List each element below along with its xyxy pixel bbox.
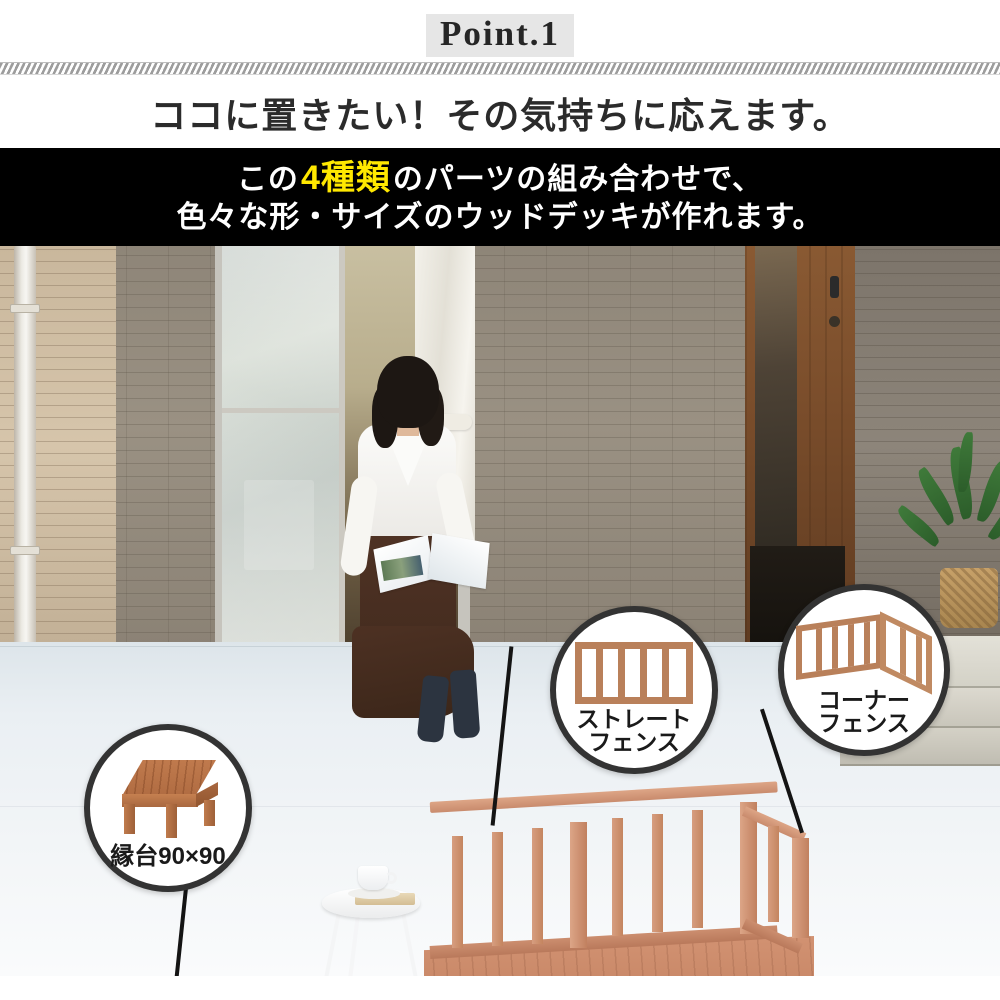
railing-baluster-1 bbox=[452, 836, 463, 948]
straight-fence-icon bbox=[575, 642, 693, 704]
door-handle bbox=[830, 276, 839, 298]
railing-baluster-2 bbox=[492, 832, 503, 946]
bench-icon-leg-2 bbox=[166, 804, 177, 838]
bench-icon-leg-1 bbox=[124, 804, 135, 834]
entry-door-sidelight bbox=[755, 246, 797, 560]
callout-straight-fence-label-line1: ストレート bbox=[577, 708, 692, 732]
plant-pot bbox=[940, 568, 998, 628]
corner-fence-panel-left bbox=[796, 614, 882, 680]
corner-fence-icon bbox=[796, 616, 932, 684]
railing-post-corner bbox=[740, 802, 757, 934]
pipe-band-lower bbox=[10, 546, 40, 555]
callout-corner-fence-label: コーナー フェンス bbox=[818, 689, 910, 736]
railing-baluster-5 bbox=[652, 814, 663, 932]
banner-highlight: 4種類 bbox=[299, 159, 393, 197]
callout-corner-fence[interactable]: コーナー フェンス bbox=[778, 584, 950, 756]
railing-post-middle bbox=[570, 822, 587, 948]
corner-fence-baluster-6 bbox=[916, 635, 922, 684]
magazine-right-page bbox=[428, 533, 489, 589]
straight-fence-baluster-4 bbox=[662, 649, 669, 697]
railing-baluster-4 bbox=[612, 818, 623, 936]
railing-return-baluster-1 bbox=[768, 826, 779, 922]
callout-corner-fence-label-line2: フェンス bbox=[818, 712, 910, 736]
feature-banner: この4種類のパーツの組み合わせで、 色々な形・サイズのウッドデッキが作れます。 bbox=[0, 148, 1000, 246]
callout-bench[interactable]: 縁台90×90 bbox=[84, 724, 252, 892]
window-reflection-c bbox=[244, 480, 314, 570]
cup-handle bbox=[385, 872, 397, 884]
banner-line-1: この4種類のパーツの組み合わせで、 bbox=[237, 158, 763, 198]
coffee-cup bbox=[358, 866, 388, 890]
product-feature-page: Point.1 ココに置きたい！その気持ちに応えます。 この4種類のパーツの組み… bbox=[0, 0, 1000, 1000]
banner-line-2: 色々な形・サイズのウッドデッキが作れます。 bbox=[176, 200, 823, 235]
corner-fence-baluster-1 bbox=[816, 628, 822, 671]
corner-fence-baluster-4 bbox=[864, 622, 870, 665]
door-lock-icon bbox=[829, 316, 840, 327]
corner-fence-baluster-5 bbox=[900, 627, 906, 676]
straight-fence-baluster-3 bbox=[640, 649, 647, 697]
straight-fence-baluster-2 bbox=[618, 649, 625, 697]
striped-divider bbox=[0, 62, 1000, 75]
pipe-band-upper bbox=[10, 304, 40, 313]
straight-fence-baluster-1 bbox=[596, 649, 603, 697]
banner-line1-pre: この bbox=[237, 163, 299, 196]
callout-corner-fence-label-line1: コーナー bbox=[818, 689, 910, 713]
point-header-band: Point.1 bbox=[0, 0, 1000, 62]
railing-return-post bbox=[792, 838, 809, 938]
banner-line1-post: のパーツの組み合わせで、 bbox=[393, 163, 763, 196]
corner-fence-panel-right bbox=[880, 611, 932, 694]
product-scene-photo: 縁台90×90 ストレート フェンス bbox=[0, 246, 1000, 976]
railing-baluster-3 bbox=[532, 828, 543, 944]
callout-straight-fence[interactable]: ストレート フェンス bbox=[550, 606, 718, 774]
bench-icon bbox=[104, 760, 232, 838]
callout-straight-fence-label-line2: フェンス bbox=[577, 731, 692, 755]
bench-icon-top bbox=[122, 760, 216, 796]
woman-boot-right bbox=[450, 669, 481, 739]
woman-hair-top bbox=[377, 356, 439, 428]
bench-icon-leg-3 bbox=[204, 800, 215, 826]
callout-straight-fence-label: ストレート フェンス bbox=[577, 708, 692, 755]
porch-edge-3 bbox=[840, 764, 1000, 766]
callout-bench-label: 縁台90×90 bbox=[110, 845, 225, 870]
corner-fence-baluster-3 bbox=[848, 624, 854, 667]
page-headline: ココに置きたい！その気持ちに応えます。 bbox=[0, 78, 1000, 148]
railing-baluster-6 bbox=[692, 810, 703, 928]
point-badge: Point.1 bbox=[426, 14, 574, 57]
corner-fence-baluster-2 bbox=[832, 626, 838, 669]
